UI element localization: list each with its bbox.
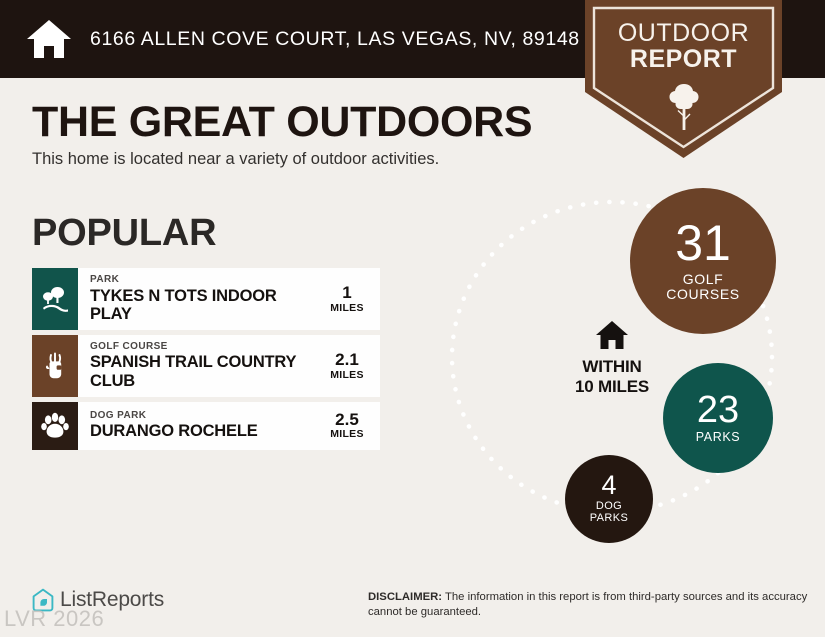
list-item-distance: 2.5 MILES [322, 402, 380, 450]
bubble-label-line1: PARKS [696, 431, 740, 445]
bubble-count: 31 [675, 220, 731, 268]
disclaimer-label: DISCLAIMER: [368, 591, 442, 603]
paw-print-icon [41, 412, 69, 439]
list-item-body: PARK TYKES N TOTS INDOOR PLAY [78, 268, 322, 330]
disclaimer: DISCLAIMER: The information in this repo… [368, 590, 816, 620]
list-item-icon-tile [32, 335, 78, 397]
distance-value: 2.5 [335, 411, 359, 429]
tree-icon [668, 83, 700, 131]
badge-line-2: REPORT [585, 46, 782, 72]
list-item-body: GOLF COURSE SPANISH TRAIL COUNTRY CLUB [78, 335, 322, 397]
bubble-label-line2: PARKS [590, 513, 628, 525]
distance-unit: MILES [330, 428, 364, 440]
bubble-label-line2: COURSES [666, 287, 739, 302]
list-item[interactable]: DOG PARK DURANGO ROCHELE 2.5 MILES [32, 402, 380, 450]
page-title: THE GREAT OUTDOORS [32, 98, 532, 147]
list-item-distance: 1 MILES [322, 268, 380, 330]
distance-value: 2.1 [335, 351, 359, 369]
park-trees-icon [41, 286, 69, 312]
badge-line-1: OUTDOOR [585, 20, 782, 46]
home-icon [595, 320, 629, 350]
watermark: LVR 2026 [4, 606, 104, 632]
list-item-name: SPANISH TRAIL COUNTRY CLUB [90, 353, 318, 390]
bubble-count: 23 [697, 392, 739, 428]
list-item-body: DOG PARK DURANGO ROCHELE [78, 402, 322, 450]
golf-bag-icon [42, 352, 68, 380]
list-item-distance: 2.1 MILES [322, 335, 380, 397]
distance-value: 1 [342, 284, 351, 302]
list-item-name: DURANGO ROCHELE [90, 422, 318, 441]
distance-unit: MILES [330, 302, 364, 314]
list-item[interactable]: GOLF COURSE SPANISH TRAIL COUNTRY CLUB 2… [32, 335, 380, 397]
page-subtitle: This home is located near a variety of o… [32, 150, 439, 169]
outdoor-report-badge: OUTDOOR REPORT [585, 0, 782, 158]
list-item-category: GOLF COURSE [90, 341, 318, 354]
list-item-icon-tile [32, 268, 78, 330]
popular-heading: POPULAR [32, 212, 216, 255]
within-radius-label: WITHIN 10 MILES [552, 320, 672, 396]
within-line-2: 10 MILES [552, 377, 672, 397]
within-line-1: WITHIN [552, 357, 672, 377]
list-item-category: DOG PARK [90, 410, 318, 423]
bubble-dog-parks: 4 DOG PARKS [565, 455, 653, 543]
outdoor-report-page: 6166 ALLEN COVE COURT, LAS VEGAS, NV, 89… [0, 0, 825, 637]
bubble-count: 4 [601, 473, 616, 499]
list-item-icon-tile [32, 402, 78, 450]
property-address: 6166 ALLEN COVE COURT, LAS VEGAS, NV, 89… [90, 28, 580, 51]
bubble-parks: 23 PARKS [663, 363, 773, 473]
list-item-name: TYKES N TOTS INDOOR PLAY [90, 287, 318, 324]
badge-title: OUTDOOR REPORT [585, 20, 782, 73]
list-item-category: PARK [90, 274, 318, 287]
home-icon [26, 18, 72, 60]
proximity-diagram: 31 GOLF COURSES 23 PARKS 4 DOG PARKS WIT… [430, 175, 825, 555]
popular-list: PARK TYKES N TOTS INDOOR PLAY 1 MILES [32, 268, 380, 455]
list-item[interactable]: PARK TYKES N TOTS INDOOR PLAY 1 MILES [32, 268, 380, 330]
distance-unit: MILES [330, 369, 364, 381]
bubble-label-line1: GOLF [683, 272, 724, 287]
bubble-golf-courses: 31 GOLF COURSES [630, 188, 776, 334]
